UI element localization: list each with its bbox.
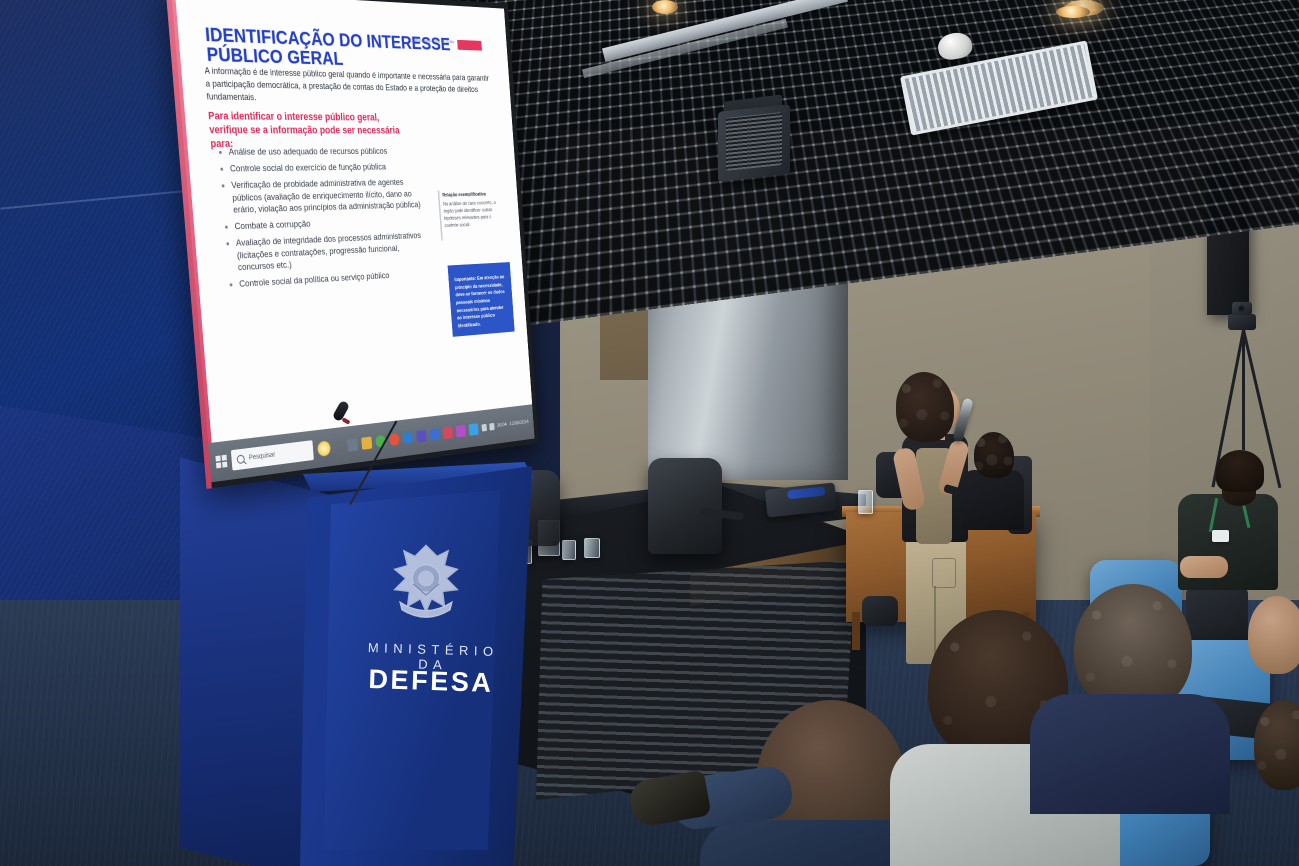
speaker-hair [896,372,954,442]
search-icon [236,454,244,464]
audience-head [1254,700,1299,790]
tray-clock-date[interactable]: 12/06/2024 [509,419,528,427]
app-icon-firefox[interactable] [389,433,400,446]
slide-paragraph-1: A informação é de interesse público gera… [204,65,494,107]
brand-badge-icon [457,40,482,51]
wood-desk-leg [852,612,860,650]
office-chair [648,458,722,554]
windows-start-icon[interactable] [215,454,227,468]
tray-clock-time[interactable]: 16:04 [497,422,507,428]
app-icon-taskview[interactable] [347,438,358,451]
tray-network-icon[interactable] [482,424,487,432]
list-item: Análise de uso adequado de recursos públ… [216,145,423,158]
tripod-head [1228,314,1256,330]
bearded-man-hair [1216,450,1264,492]
recessed-ceiling-light [652,0,678,14]
app-icon-powerpoint[interactable] [443,426,453,439]
search-placeholder: Pesquisar [249,451,276,461]
system-tray[interactable]: 16:04 12/06/2024 [482,419,529,432]
presentation-slide[interactable]: IDENTIFICAÇÃO DO INTERESSE PÚBLICO GERAL… [171,0,532,443]
water-glass [584,538,600,558]
side-note-title: Relação exemplificativa [442,191,504,200]
audience-shoulders [1030,694,1230,814]
seated-woman-hair [974,432,1014,478]
conference-room-photo: IDENTIFICAÇÃO DO INTERESSE PÚBLICO GERAL… [0,0,1299,866]
projection-screen[interactable]: IDENTIFICAÇÃO DO INTERESSE PÚBLICO GERAL… [165,0,539,489]
search-input[interactable]: Pesquisar [231,440,314,470]
slide-side-note: Relação exemplificativa Na análise do ca… [442,191,506,231]
brazil-coat-of-arms-icon [380,538,472,630]
slide-bullet-list: Análise de uso adequado de recursos públ… [216,145,433,296]
list-item: Controle social do exercício de função p… [217,161,424,175]
video-camera-icon [1232,302,1252,315]
tray-volume-icon[interactable] [489,423,494,431]
app-icon-outlook[interactable] [469,423,479,436]
audience-head [1074,584,1192,712]
podium-line-2: DEFESA [354,664,509,700]
side-note-body: Na análise do caso concreto, o órgão pod… [443,201,496,230]
taskbar-app-icons[interactable] [347,423,479,451]
bearded-man-hands [1180,556,1228,578]
water-glass [562,540,576,560]
spot-light-right [1056,6,1090,18]
list-item: Verificação de probidade administrativa … [219,176,428,216]
tripod-leg-center [1242,330,1245,450]
water-glass-side [858,490,873,514]
ceiling-speaker [718,104,790,182]
app-icon-onenote[interactable] [456,424,466,437]
slide-callout-box: Importante: Em atenção ao princípio da n… [448,262,515,337]
list-item: Avaliação de integridade dos processos a… [223,230,431,275]
cortana-icon[interactable] [317,439,332,457]
app-icon-edge[interactable] [403,431,414,444]
id-badge [1212,530,1229,542]
podium: MINISTÉRIO DA DEFESA [300,466,532,866]
app-icon-teams[interactable] [416,429,427,442]
audience-head [1248,596,1299,674]
app-icon-word[interactable] [429,428,439,441]
podium-front-panel: MINISTÉRIO DA DEFESA [324,490,500,850]
app-icon-explorer[interactable] [361,436,372,449]
equipment-box [862,596,898,626]
